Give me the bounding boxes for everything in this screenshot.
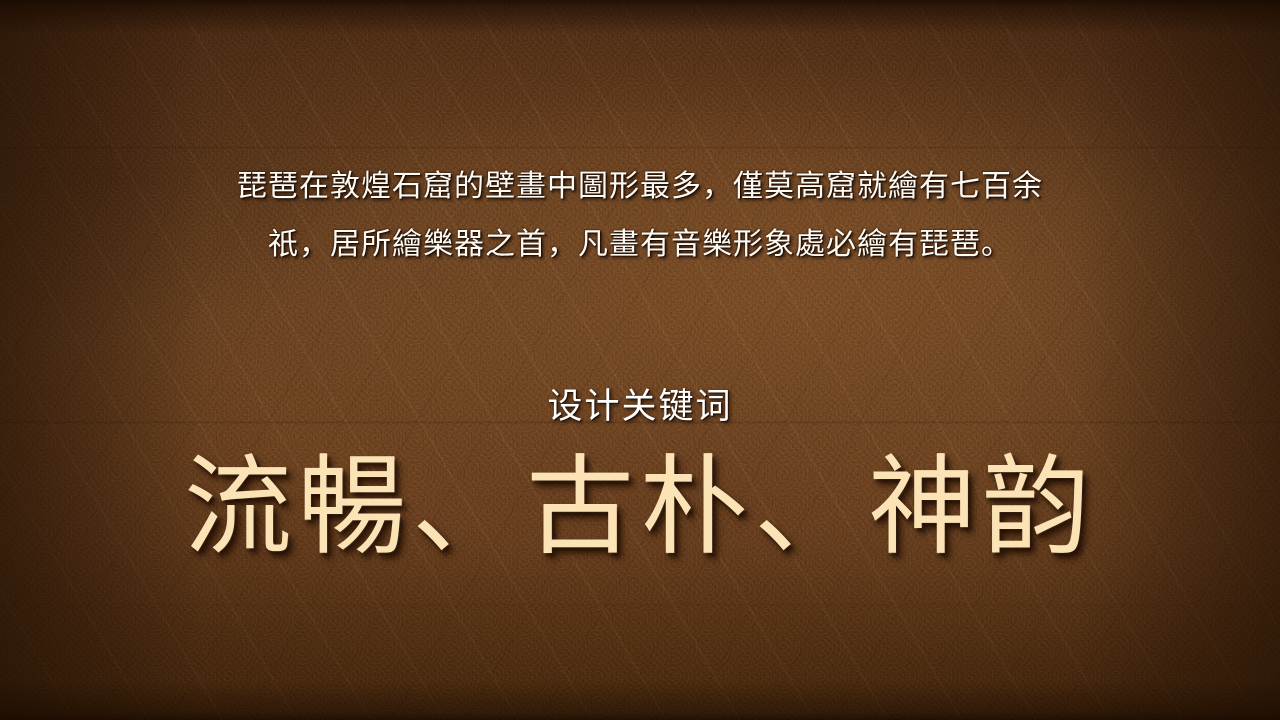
section-subtitle: 设计关键词 bbox=[0, 386, 1280, 428]
slide-content: 琵琶在敦煌石窟的壁畫中圖形最多，僅莫高窟就繪有七百余 祇，居所繪樂器之首，凡畫有… bbox=[0, 0, 1280, 720]
body-paragraph: 琵琶在敦煌石窟的壁畫中圖形最多，僅莫高窟就繪有七百余 祇，居所繪樂器之首，凡畫有… bbox=[215, 158, 1065, 274]
slide-canvas: 琵琶在敦煌石窟的壁畫中圖形最多，僅莫高窟就繪有七百余 祇，居所繪樂器之首，凡畫有… bbox=[0, 0, 1280, 720]
keywords-headline: 流暢、古朴、神韵 bbox=[0, 445, 1280, 571]
